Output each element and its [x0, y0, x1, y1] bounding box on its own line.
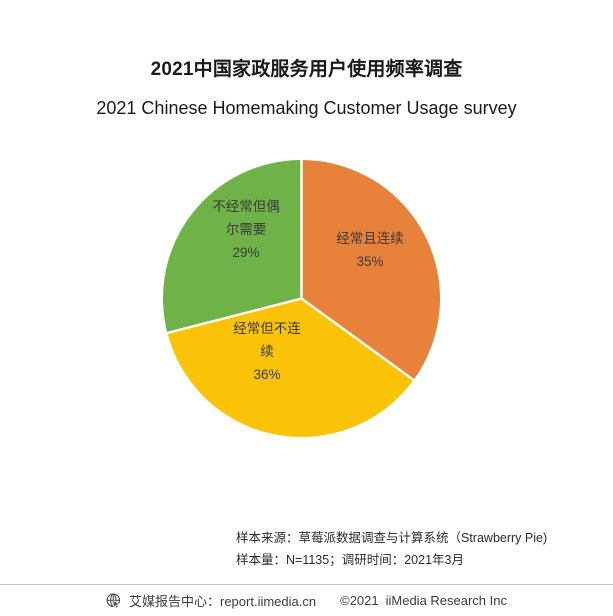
page-title: 2021中国家政服务用户使用频率调查: [0, 58, 613, 83]
pie-chart: 经常且连续 35% 经常但不连 续 36% 不经常但偶 尔需要 29%: [162, 159, 441, 438]
source-notes: 样本来源：草莓派数据调查与计算系统（Strawberry Pie) 样本量：N=…: [236, 528, 608, 572]
footer-company: iiMedia Research Inc: [386, 593, 507, 608]
globe-cursor-icon: [106, 593, 122, 609]
page-subtitle: 2021 Chinese Homemaking Customer Usage s…: [0, 97, 613, 120]
source-sample-size: 样本量：N=1135；调研时间：2021年3月: [236, 550, 608, 572]
footer: 艾媒报告中心：report.iimedia.cn ©2021 iiMedia R…: [0, 585, 613, 616]
footer-copyright: ©2021: [340, 593, 379, 608]
source-origin: 样本来源：草莓派数据调查与计算系统（Strawberry Pie): [236, 528, 608, 550]
chart-header: 2021中国家政服务用户使用频率调查 2021 Chinese Homemaki…: [0, 58, 613, 120]
pie-chart-svg: [162, 159, 441, 438]
footer-brand: 艾媒报告中心：report.iimedia.cn: [129, 591, 316, 610]
